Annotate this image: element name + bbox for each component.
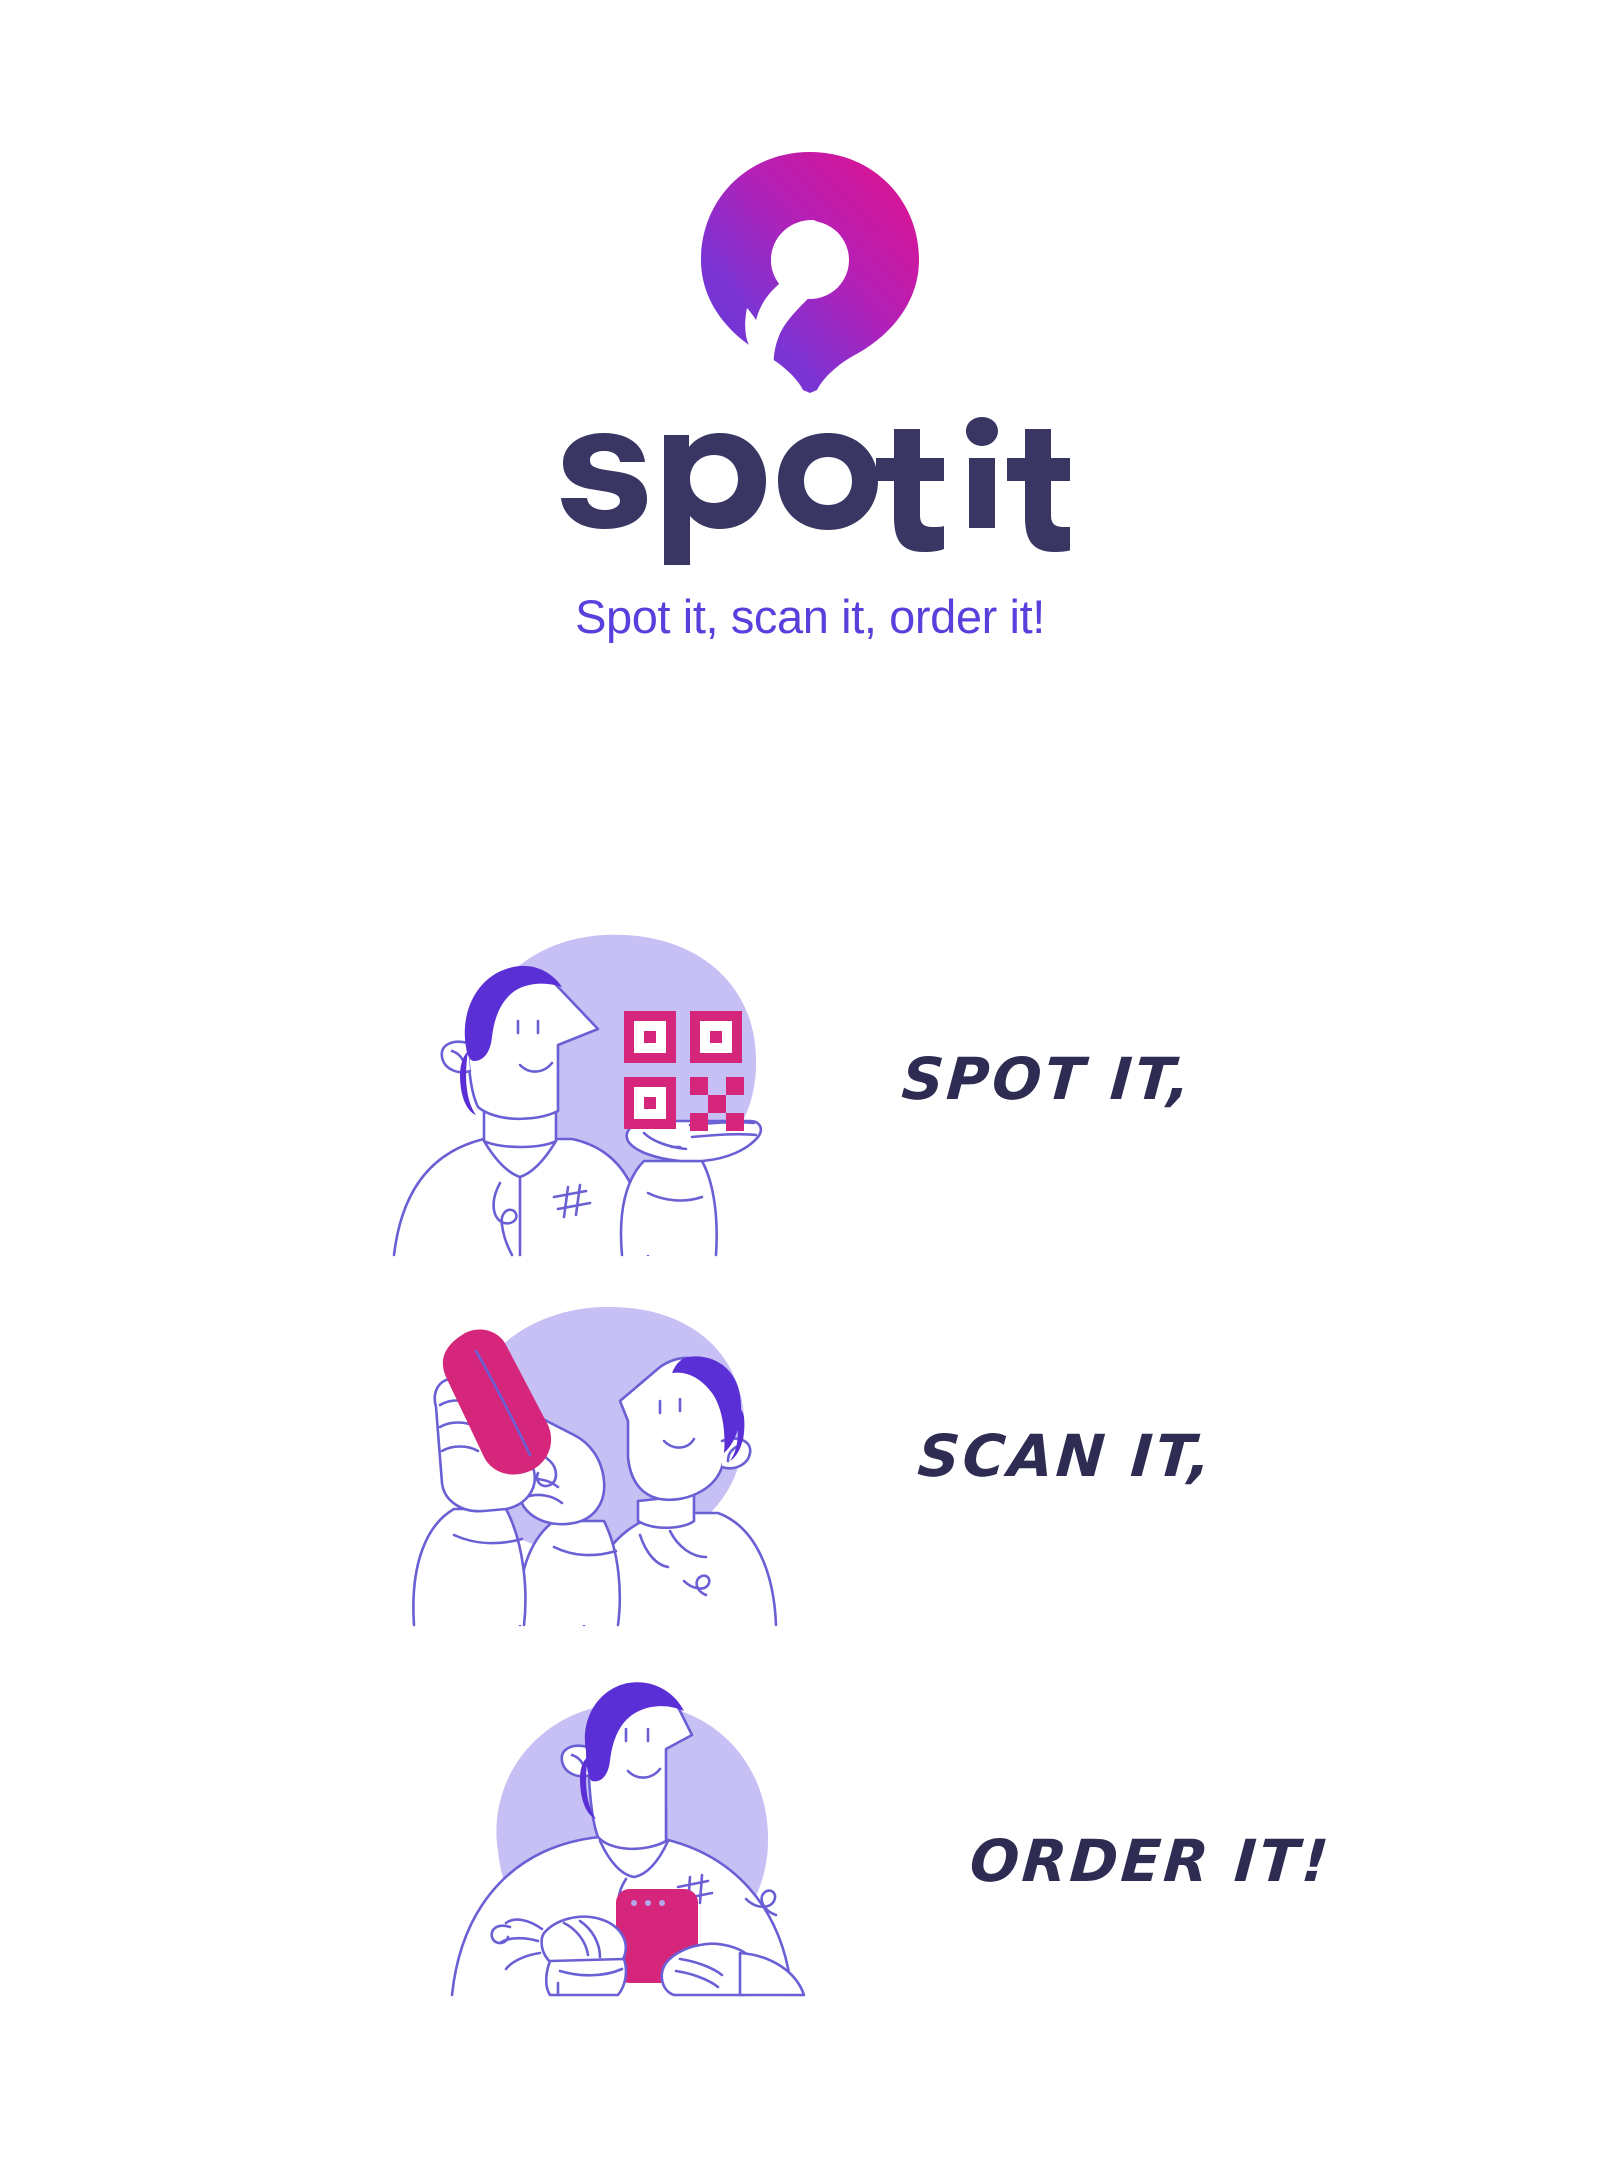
brand-lockup: Spot it, scan it, order it! xyxy=(0,150,1620,640)
step-label-scan: SCAN IT, xyxy=(916,1422,1217,1490)
spotit-pin-logo-icon xyxy=(695,150,925,395)
poster-canvas: Spot it, scan it, order it! xyxy=(0,0,1620,2160)
illustration-spot-it xyxy=(372,925,892,1255)
steps-list: SPOT IT, xyxy=(0,905,1620,2015)
step-label-spot: SPOT IT, xyxy=(900,1045,1196,1113)
illustration-order-it xyxy=(440,1665,960,1995)
spotit-wordmark xyxy=(550,417,1070,567)
illustration-scan-it xyxy=(388,1295,908,1625)
step-row-order: ORDER IT! xyxy=(0,1645,1620,2015)
brand-tagline: Spot it, scan it, order it! xyxy=(575,593,1045,640)
step-label-order: ORDER IT! xyxy=(968,1827,1334,1895)
step-row-spot: SPOT IT, xyxy=(0,905,1620,1275)
step-row-scan: SCAN IT, xyxy=(0,1275,1620,1645)
